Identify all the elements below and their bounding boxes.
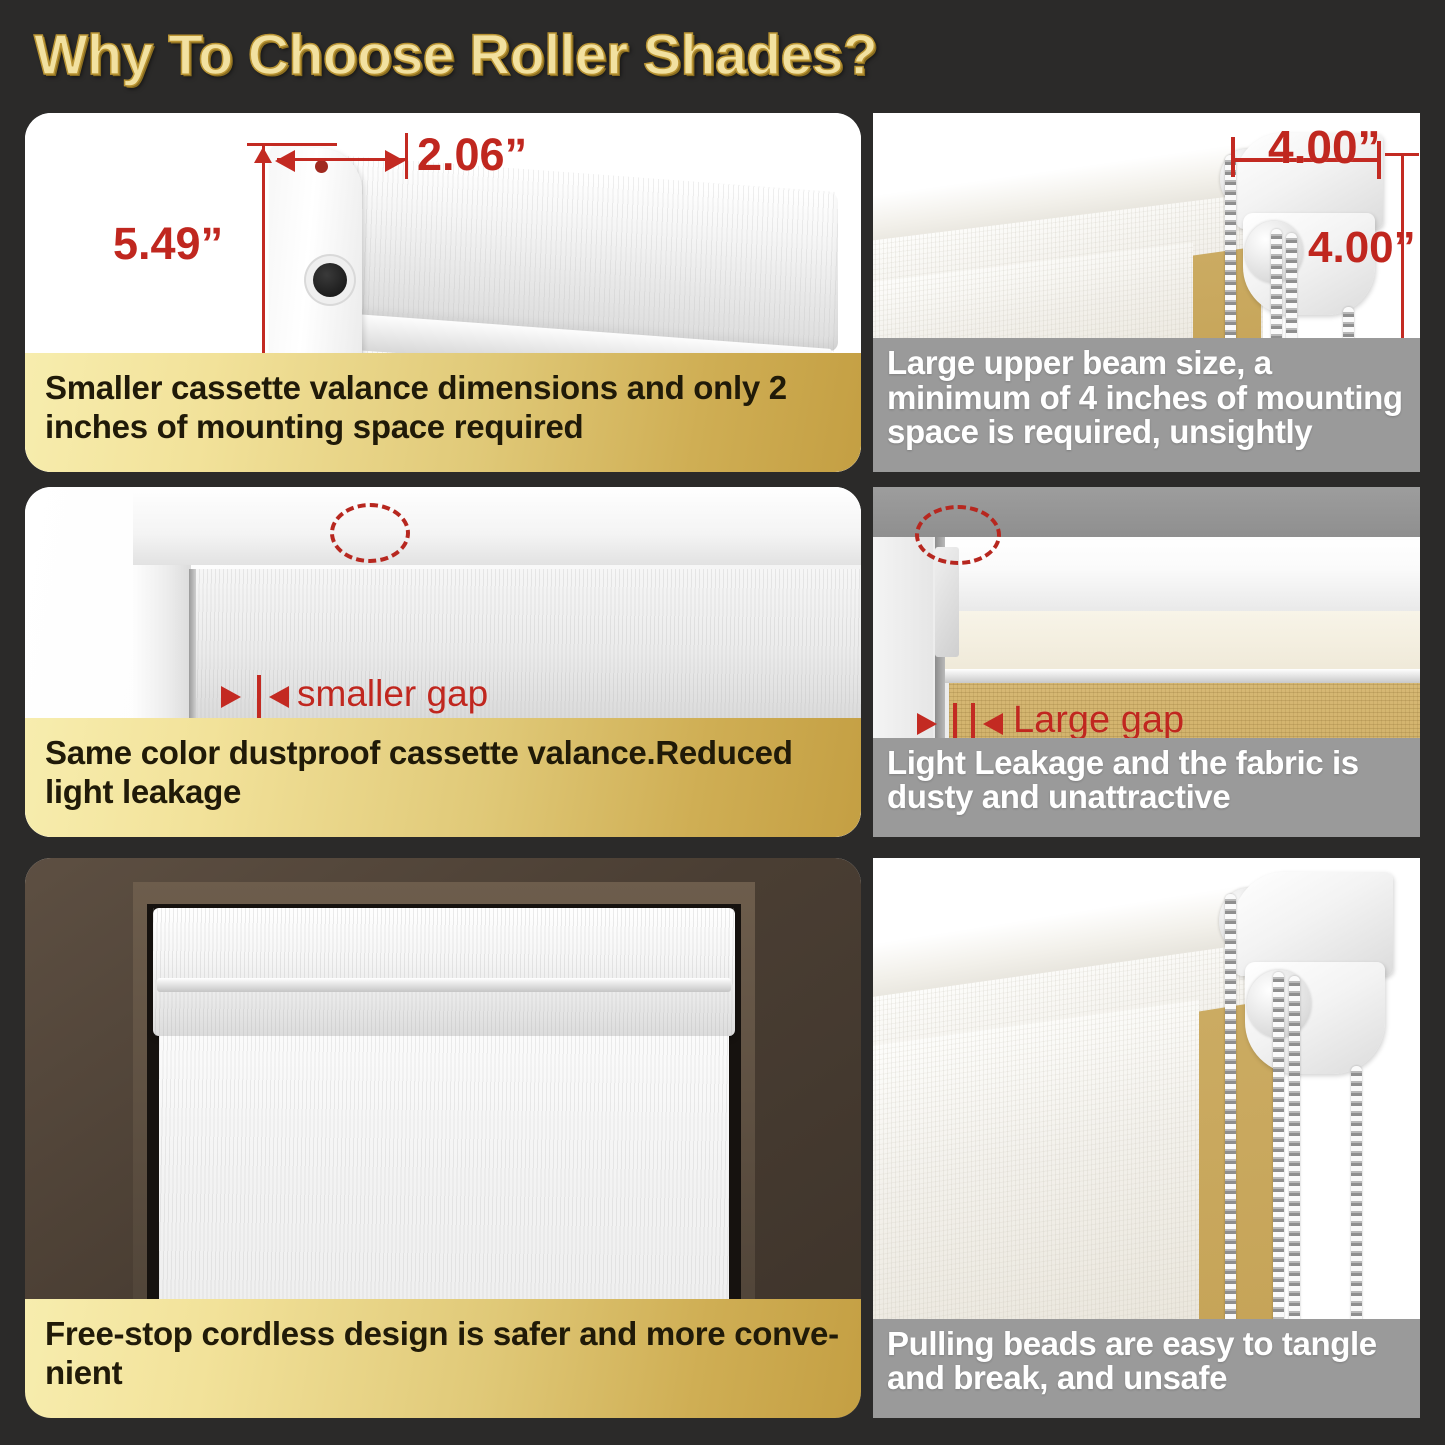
height-dim-tick-top (247, 143, 337, 146)
panel-5-caption-line-2: nient (45, 1354, 841, 1392)
panel-2-caption-line-3: space is required, unsightly (887, 415, 1406, 450)
panel-5-caption-line-1: Free-stop cordless design is safer and m… (45, 1315, 841, 1353)
width-dim-arrow-left (275, 150, 295, 172)
height-dimension-label: 5.49” (113, 218, 223, 270)
panel-1-caption-text: Smaller cassette valance dimensions and … (45, 369, 841, 446)
panel-6: Pulling beads are easy to tangle and bre… (873, 858, 1420, 1418)
panel-6-caption: Pulling beads are easy to tangle and bre… (873, 1319, 1420, 1418)
bead-chain (1351, 1066, 1362, 1334)
panel-6-caption-line-1: Pulling beads are easy to tangle (887, 1327, 1406, 1362)
panel-4-caption-line-2: dusty and unattractive (887, 780, 1406, 815)
gap-arrow-left (983, 713, 1003, 735)
page-title: Why To Choose Roller Shades? (34, 22, 877, 88)
panel-4: Large gap Light Leakage and the fabric i… (873, 487, 1420, 837)
panel-1: 5.49” 2.06” Smaller cassette valance dim… (25, 113, 861, 472)
panel-1-caption: Smaller cassette valance dimensions and … (25, 353, 861, 472)
height-dimension-label: 4.00” (1308, 223, 1416, 273)
infographic-root: Why To Choose Roller Shades? 5.49” 2.06” (0, 0, 1445, 1445)
gap-callout-label: smaller gap (297, 673, 488, 715)
width-dim-tick-left (1231, 137, 1235, 177)
width-dimension-label: 2.06” (417, 129, 527, 181)
width-dim-arrow-right (385, 150, 405, 172)
panel-2-caption-line-2: minimum of 4 inches of mounting (887, 381, 1406, 416)
width-dimension-label: 4.00” (1268, 120, 1381, 174)
highlight-circle-icon (915, 505, 1001, 565)
panel-4-caption-line-1: Light Leakage and the fabric is (887, 746, 1406, 781)
panel-4-caption: Light Leakage and the fabric is dusty an… (873, 738, 1420, 837)
panel-5: Free-stop cordless design is safer and m… (25, 858, 861, 1418)
height-dim-arrow-up (254, 147, 272, 163)
bracket-hole-icon (313, 263, 347, 297)
panel-2-caption: Large upper beam size, a minimum of 4 in… (873, 338, 1420, 472)
panel-3: smaller gap Same color dustproof cassett… (25, 487, 861, 837)
gap-arrow-left (269, 686, 289, 708)
highlight-circle-icon (330, 503, 410, 563)
panel-3-caption: Same color dustproof cassette valance.Re… (25, 718, 861, 837)
bead-chain (1273, 972, 1284, 1334)
panel-3-caption-line-1: Same color dustproof cassette valance.Re… (45, 734, 841, 772)
panel-2: 4.00” 4.00” Large upper beam size, a min… (873, 113, 1420, 472)
panel-3-caption-line-2: light leakage (45, 773, 841, 811)
gap-callout-label: Large gap (1013, 699, 1184, 742)
gap-arrow-right (917, 713, 937, 735)
panel-2-caption-line-1: Large upper beam size, a (887, 346, 1406, 381)
panel-6-caption-line-2: and break, and unsafe (887, 1361, 1406, 1396)
panel-5-caption: Free-stop cordless design is safer and m… (25, 1299, 861, 1418)
height-dim-tick-top (1385, 153, 1419, 156)
gap-arrow-right (221, 686, 241, 708)
gap-marker-line (257, 675, 261, 719)
width-dim-tick-right (405, 133, 408, 179)
bead-chain (1289, 976, 1300, 1334)
bead-chain (1225, 894, 1236, 1334)
